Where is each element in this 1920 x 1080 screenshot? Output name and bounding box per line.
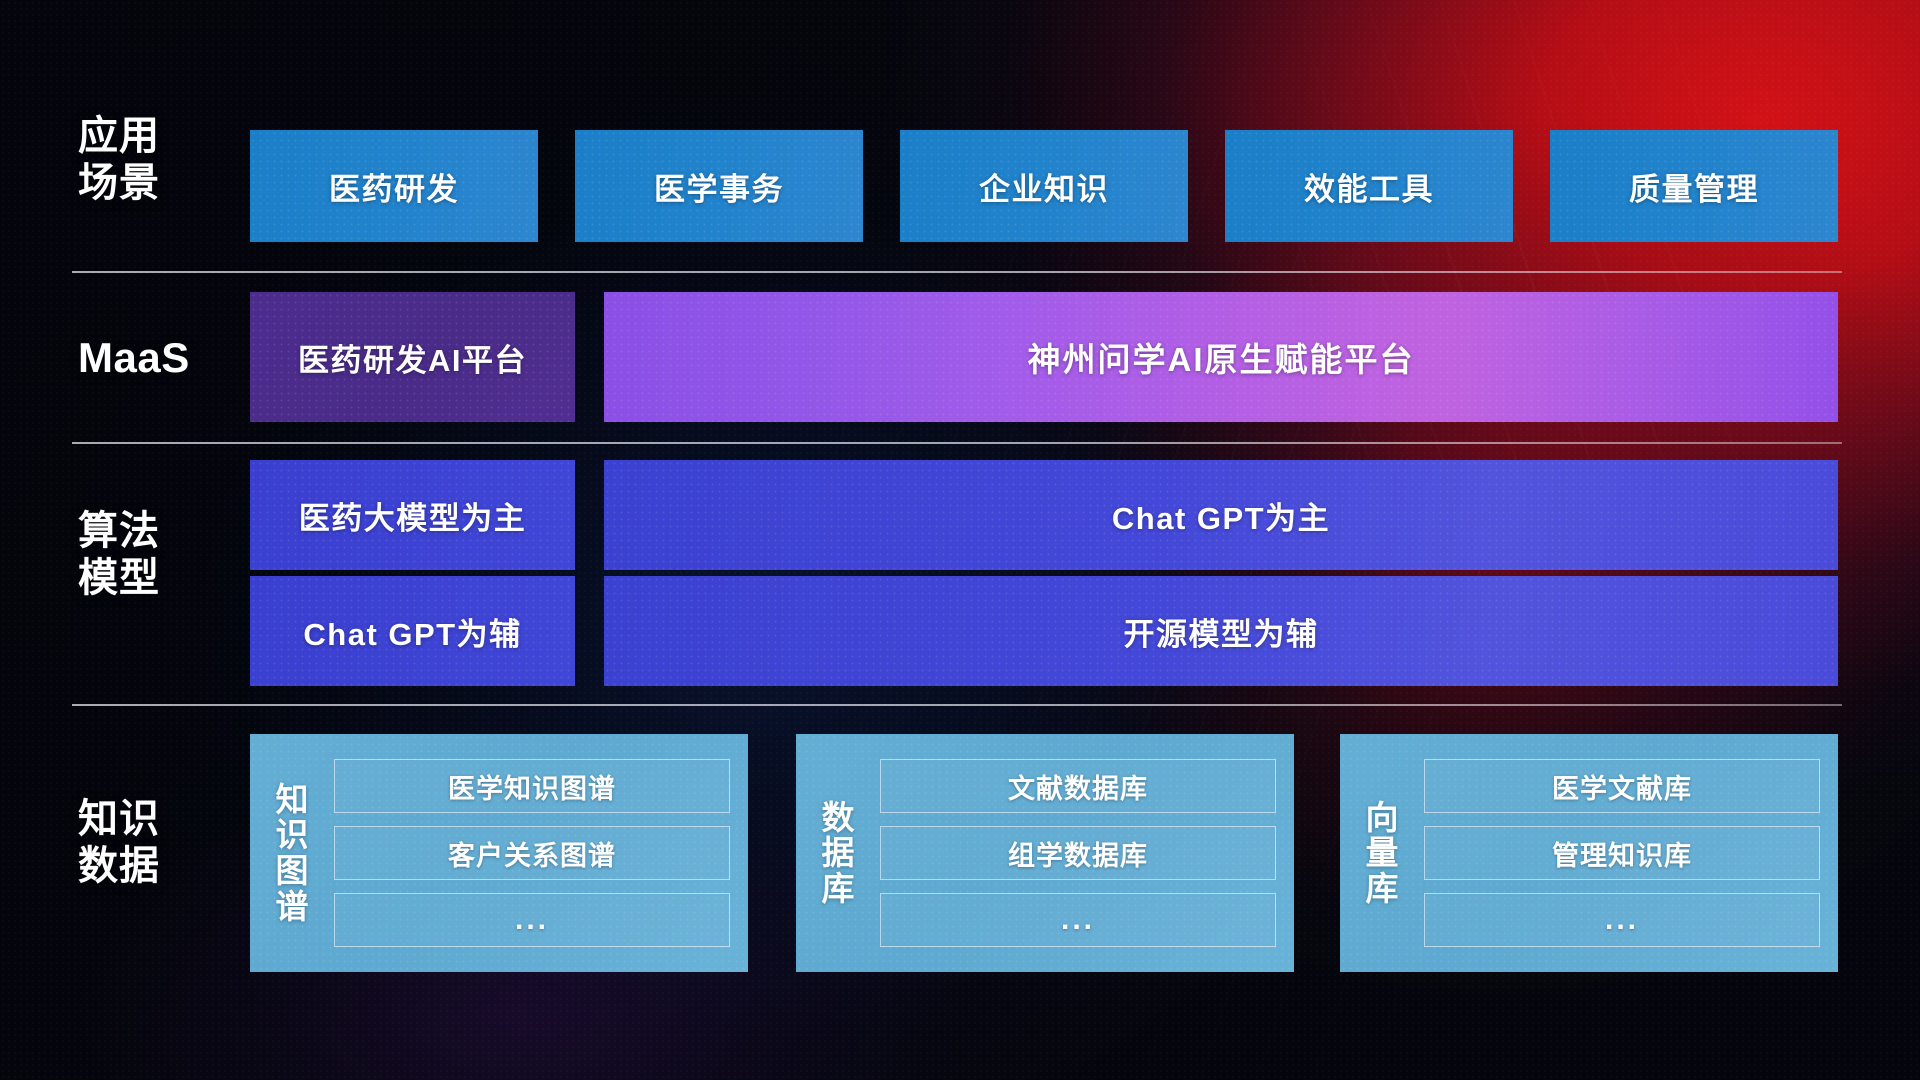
knowledge-item-graph-more[interactable]: ... <box>334 893 730 947</box>
knowledge-group-database-vertical-label: 数据库 <box>812 800 864 907</box>
algo-label-left-secondary: Chat GPT为辅 <box>303 609 521 654</box>
algo-box-left-primary[interactable]: 医药大模型为主 <box>250 460 575 570</box>
algo-box-right-secondary[interactable]: 开源模型为辅 <box>604 576 1838 686</box>
algo-label-left-primary: 医药大模型为主 <box>299 493 527 538</box>
app-scenario-label-5: 质量管理 <box>1629 164 1759 209</box>
app-scenario-label-1: 医药研发 <box>329 164 459 209</box>
row-label-application-scenario: 应用 场景 <box>78 113 248 207</box>
algo-label-right-primary: Chat GPT为主 <box>1112 493 1330 538</box>
divider-1 <box>72 271 1842 273</box>
row-label-algorithm-line-1: 算法 <box>78 508 248 555</box>
algo-box-right-primary[interactable]: Chat GPT为主 <box>604 460 1838 570</box>
slide-canvas: 应用 场景 医药研发 医学事务 企业知识 效能工具 质量管理 MaaS 医药研发… <box>0 0 1920 1080</box>
knowledge-group-vector[interactable]: 向量库 医学文献库 管理知识库 ... <box>1340 734 1838 972</box>
row-label-line-2: 场景 <box>78 160 248 207</box>
knowledge-item-database-2[interactable]: 组学数据库 <box>880 826 1276 880</box>
row-label-maas-text: MaaS <box>78 333 248 383</box>
knowledge-group-graph-items: 医学知识图谱 客户关系图谱 ... <box>334 750 730 956</box>
knowledge-item-graph-2[interactable]: 客户关系图谱 <box>334 826 730 880</box>
app-scenario-box-3[interactable]: 企业知识 <box>900 130 1188 242</box>
row-label-knowledge-line-2: 数据 <box>78 843 248 890</box>
row-label-algorithm-line-2: 模型 <box>78 555 248 602</box>
app-scenario-box-2[interactable]: 医学事务 <box>575 130 863 242</box>
knowledge-group-vector-items: 医学文献库 管理知识库 ... <box>1424 750 1820 956</box>
knowledge-item-vector-2[interactable]: 管理知识库 <box>1424 826 1820 880</box>
row-label-maas: MaaS <box>78 333 248 383</box>
app-scenario-label-3: 企业知识 <box>979 164 1109 209</box>
app-scenario-box-5[interactable]: 质量管理 <box>1550 130 1838 242</box>
row-label-knowledge-line-1: 知识 <box>78 796 248 843</box>
knowledge-item-database-more[interactable]: ... <box>880 893 1276 947</box>
divider-3 <box>72 704 1842 706</box>
knowledge-group-vector-vertical-label: 向量库 <box>1356 800 1408 907</box>
maas-platform-label-medical: 医药研发AI平台 <box>298 335 527 380</box>
knowledge-group-database[interactable]: 数据库 文献数据库 组学数据库 ... <box>796 734 1294 972</box>
knowledge-group-database-items: 文献数据库 组学数据库 ... <box>880 750 1276 956</box>
maas-platform-box-medical[interactable]: 医药研发AI平台 <box>250 292 575 422</box>
app-scenario-box-1[interactable]: 医药研发 <box>250 130 538 242</box>
knowledge-group-graph-vertical-label: 知识图谱 <box>266 782 318 925</box>
row-label-algorithm-model: 算法 模型 <box>78 508 248 602</box>
maas-platform-box-shenzhou[interactable]: 神州问学AI原生赋能平台 <box>604 292 1838 422</box>
app-scenario-label-2: 医学事务 <box>654 164 784 209</box>
knowledge-item-vector-more[interactable]: ... <box>1424 893 1820 947</box>
algo-label-right-secondary: 开源模型为辅 <box>1124 609 1319 654</box>
row-label-line-1: 应用 <box>78 113 248 160</box>
app-scenario-box-4[interactable]: 效能工具 <box>1225 130 1513 242</box>
knowledge-item-graph-1[interactable]: 医学知识图谱 <box>334 759 730 813</box>
app-scenario-label-4: 效能工具 <box>1304 164 1434 209</box>
algo-box-left-secondary[interactable]: Chat GPT为辅 <box>250 576 575 686</box>
knowledge-group-graph[interactable]: 知识图谱 医学知识图谱 客户关系图谱 ... <box>250 734 748 972</box>
knowledge-item-vector-1[interactable]: 医学文献库 <box>1424 759 1820 813</box>
divider-2 <box>72 442 1842 444</box>
maas-platform-label-shenzhou: 神州问学AI原生赋能平台 <box>1028 333 1415 381</box>
knowledge-item-database-1[interactable]: 文献数据库 <box>880 759 1276 813</box>
row-label-knowledge-data: 知识 数据 <box>78 796 248 890</box>
